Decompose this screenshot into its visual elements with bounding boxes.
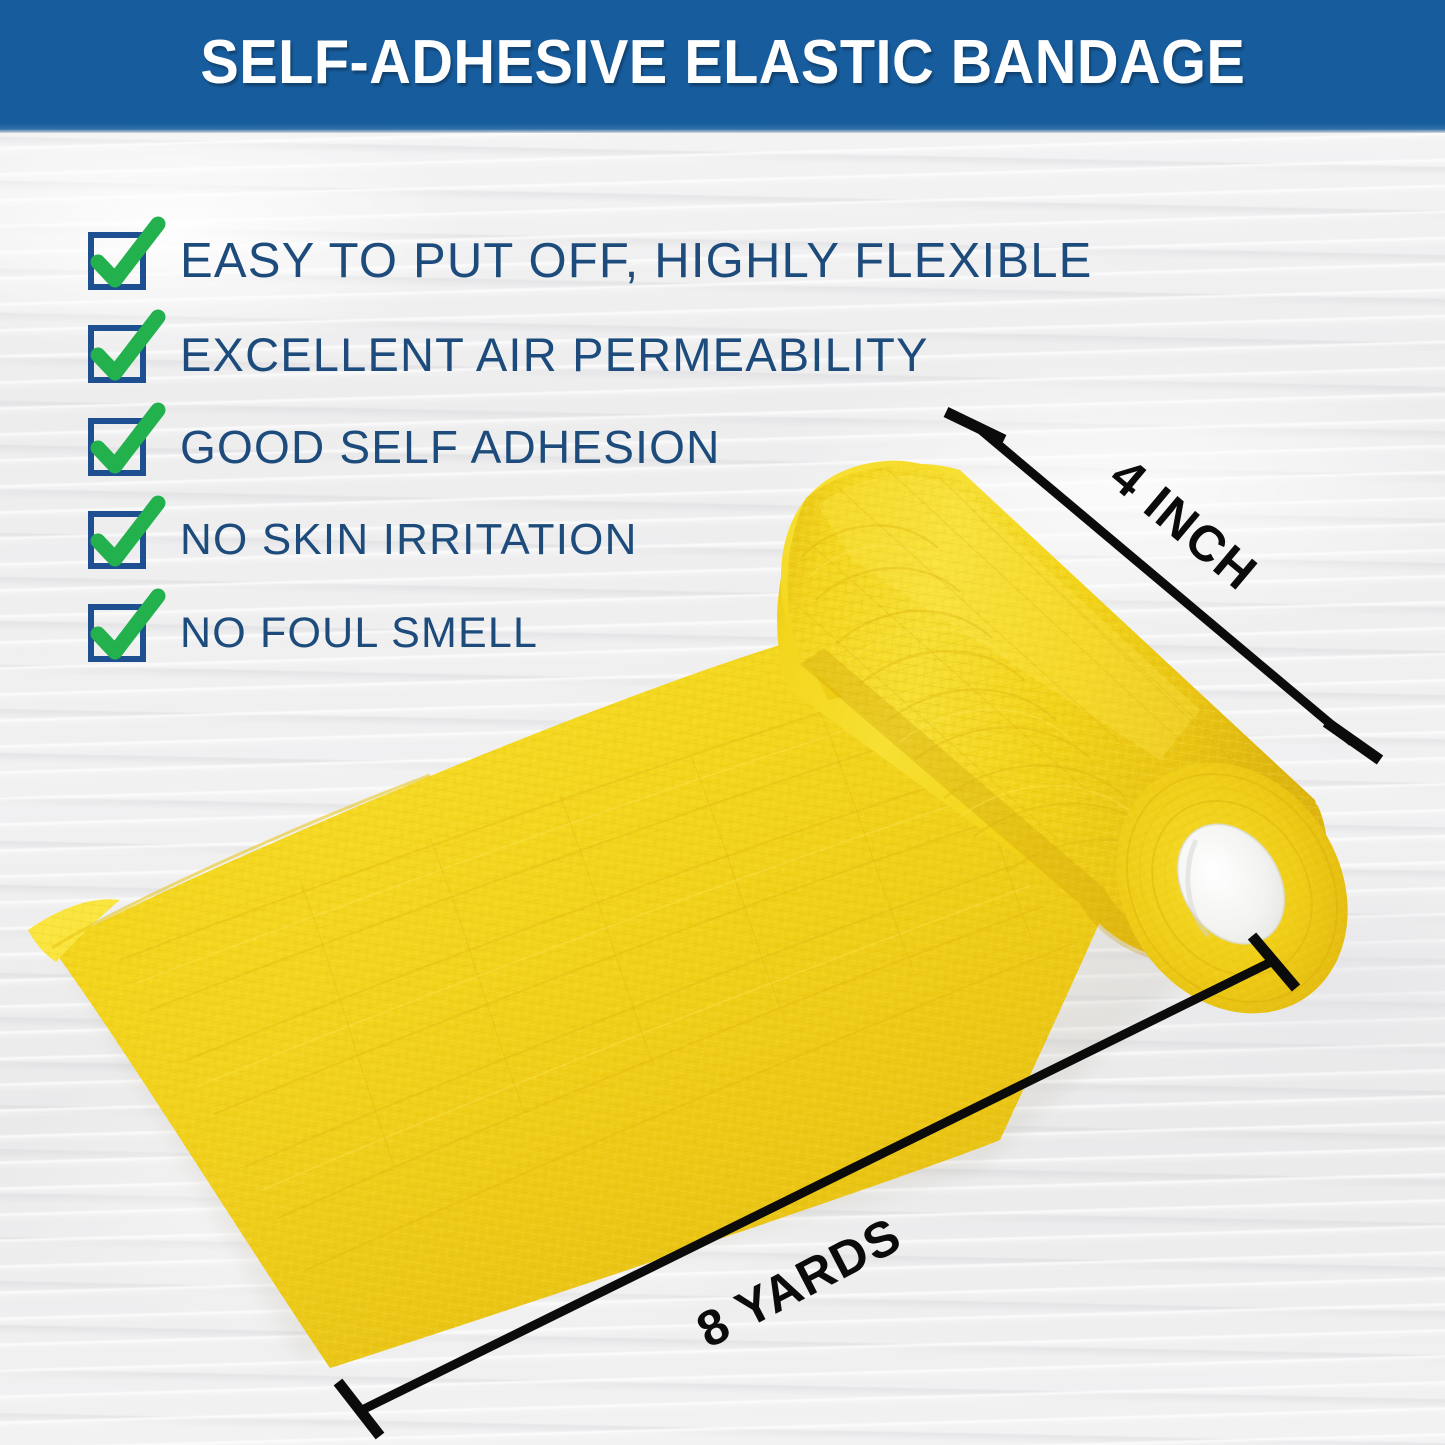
feature-item: NO FOUL SMELL xyxy=(88,594,1148,672)
feature-label: EXCELLENT AIR PERMEABILITY xyxy=(180,331,929,378)
checked-checkbox-icon xyxy=(88,325,146,383)
feature-label: GOOD SELF ADHESION xyxy=(180,424,721,470)
feature-item: EXCELLENT AIR PERMEABILITY xyxy=(88,315,1148,393)
checked-checkbox-icon xyxy=(88,418,146,476)
checked-checkbox-icon xyxy=(88,604,146,662)
page-title: SELF-ADHESIVE ELASTIC BANDAGE xyxy=(200,27,1245,98)
infographic-canvas: SELF-ADHESIVE ELASTIC BANDAGE EASY TO PU… xyxy=(0,0,1445,1445)
background-highlights xyxy=(0,0,1445,1445)
checked-checkbox-icon xyxy=(88,232,146,290)
feature-list: EASY TO PUT OFF, HIGHLY FLEXIBLE EXCELLE… xyxy=(88,222,1148,687)
feature-item: EASY TO PUT OFF, HIGHLY FLEXIBLE xyxy=(88,222,1148,300)
feature-label: EASY TO PUT OFF, HIGHLY FLEXIBLE xyxy=(180,237,1093,286)
feature-label: NO SKIN IRRITATION xyxy=(180,518,638,562)
header-banner: SELF-ADHESIVE ELASTIC BANDAGE xyxy=(0,0,1445,124)
header-banner-underline xyxy=(0,124,1445,133)
feature-label: NO FOUL SMELL xyxy=(180,612,538,655)
checked-checkbox-icon xyxy=(88,511,146,569)
feature-item: NO SKIN IRRITATION xyxy=(88,501,1148,579)
feature-item: GOOD SELF ADHESION xyxy=(88,408,1148,486)
